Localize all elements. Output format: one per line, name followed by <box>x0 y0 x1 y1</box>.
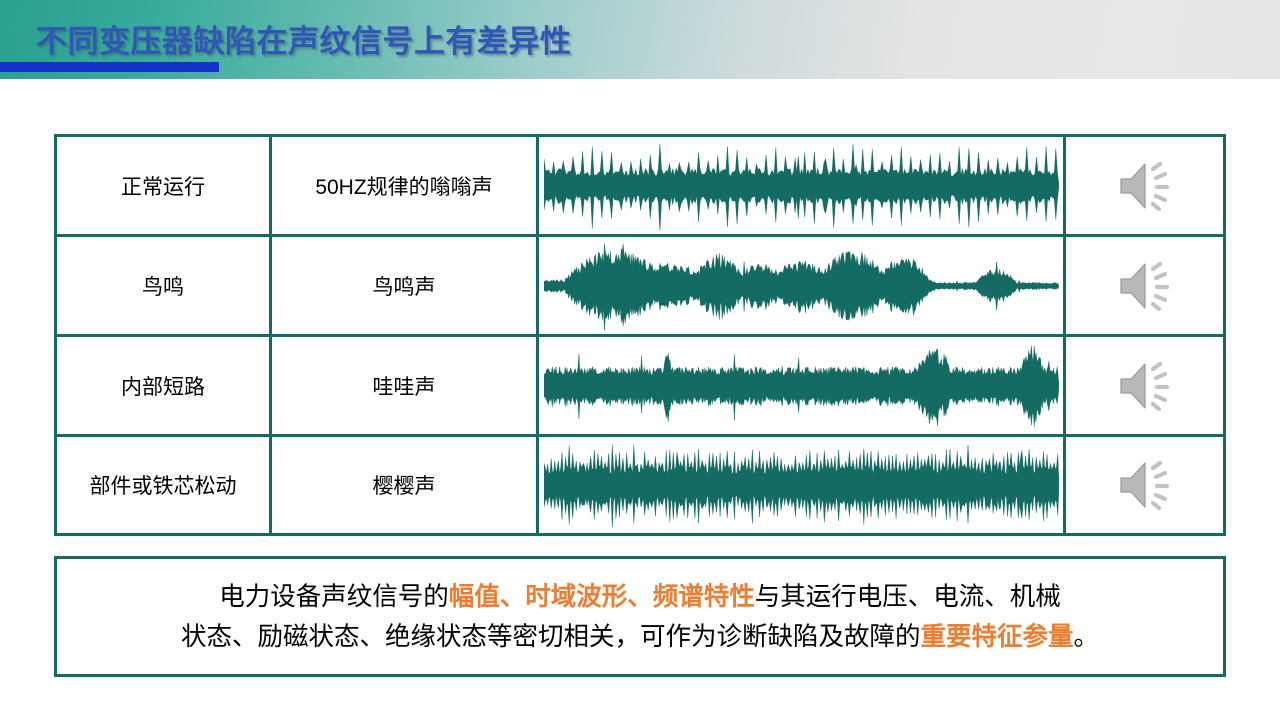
cell-sound-feature: 樱樱声 <box>272 437 539 533</box>
conclusion-highlight-1: 幅值、时域波形、频谱特性 <box>449 583 755 611</box>
cell-sound-feature: 哇哇声 <box>272 337 539 434</box>
defect-type-label: 鸟鸣 <box>142 271 184 301</box>
loose-core-waveform <box>544 443 1059 527</box>
internal-short-waveform <box>544 342 1059 430</box>
sound-feature-label: 樱樱声 <box>373 470 436 500</box>
sound-feature-label: 鸟鸣声 <box>373 271 436 301</box>
cell-waveform <box>539 237 1066 334</box>
speaker-icon[interactable] <box>1115 456 1175 514</box>
sound-feature-table: 正常运行 50HZ规律的嗡嗡声 <box>54 134 1226 536</box>
conclusion-line-1: 电力设备声纹信号的幅值、时域波形、频谱特性与其运行电压、电流、机械 <box>71 577 1209 617</box>
table-row: 内部短路 哇哇声 <box>57 337 1223 437</box>
bird-chirp-waveform <box>544 242 1059 330</box>
cell-waveform <box>539 137 1066 234</box>
cell-audio[interactable] <box>1066 137 1223 234</box>
slide-header: 不同变压器缺陷在声纹信号上有差异性 <box>0 0 1280 79</box>
conclusion-text-2a: 状态、励磁状态、绝缘状态等密切相关，可作为诊断缺陷及故障的 <box>181 623 921 651</box>
defect-type-label: 内部短路 <box>121 371 205 401</box>
sound-feature-label: 50HZ规律的嗡嗡声 <box>315 171 492 201</box>
defect-type-label: 正常运行 <box>121 171 205 201</box>
cell-audio[interactable] <box>1066 437 1223 533</box>
cell-audio[interactable] <box>1066 237 1223 334</box>
header-accent-bar <box>0 62 219 72</box>
sound-feature-label: 哇哇声 <box>373 371 436 401</box>
conclusion-text-1a: 电力设备声纹信号的 <box>219 583 449 611</box>
conclusion-box: 电力设备声纹信号的幅值、时域波形、频谱特性与其运行电压、电流、机械 状态、励磁状… <box>54 556 1226 677</box>
cell-defect-type: 内部短路 <box>57 337 272 434</box>
cell-sound-feature: 50HZ规律的嗡嗡声 <box>272 137 539 234</box>
page-title: 不同变压器缺陷在声纹信号上有差异性 <box>36 16 572 61</box>
speaker-icon[interactable] <box>1115 357 1175 415</box>
table-row: 正常运行 50HZ规律的嗡嗡声 <box>57 137 1223 237</box>
cell-defect-type: 正常运行 <box>57 137 272 234</box>
cell-defect-type: 鸟鸣 <box>57 237 272 334</box>
table-row: 鸟鸣 鸟鸣声 <box>57 237 1223 337</box>
periodic-hum-waveform <box>544 142 1059 230</box>
conclusion-highlight-2: 重要特征参量 <box>920 623 1073 651</box>
cell-sound-feature: 鸟鸣声 <box>272 237 539 334</box>
defect-type-label: 部件或铁芯松动 <box>90 470 237 500</box>
table-row: 部件或铁芯松动 樱樱声 <box>57 437 1223 533</box>
cell-waveform <box>539 437 1066 533</box>
speaker-icon[interactable] <box>1115 157 1175 215</box>
conclusion-text-1b: 与其运行电压、电流、机械 <box>755 583 1061 611</box>
cell-audio[interactable] <box>1066 337 1223 434</box>
conclusion-line-2: 状态、励磁状态、绝缘状态等密切相关，可作为诊断缺陷及故障的重要特征参量。 <box>71 617 1209 657</box>
cell-waveform <box>539 337 1066 434</box>
speaker-icon[interactable] <box>1115 257 1175 315</box>
conclusion-text-2b: 。 <box>1074 623 1100 651</box>
cell-defect-type: 部件或铁芯松动 <box>57 437 272 533</box>
